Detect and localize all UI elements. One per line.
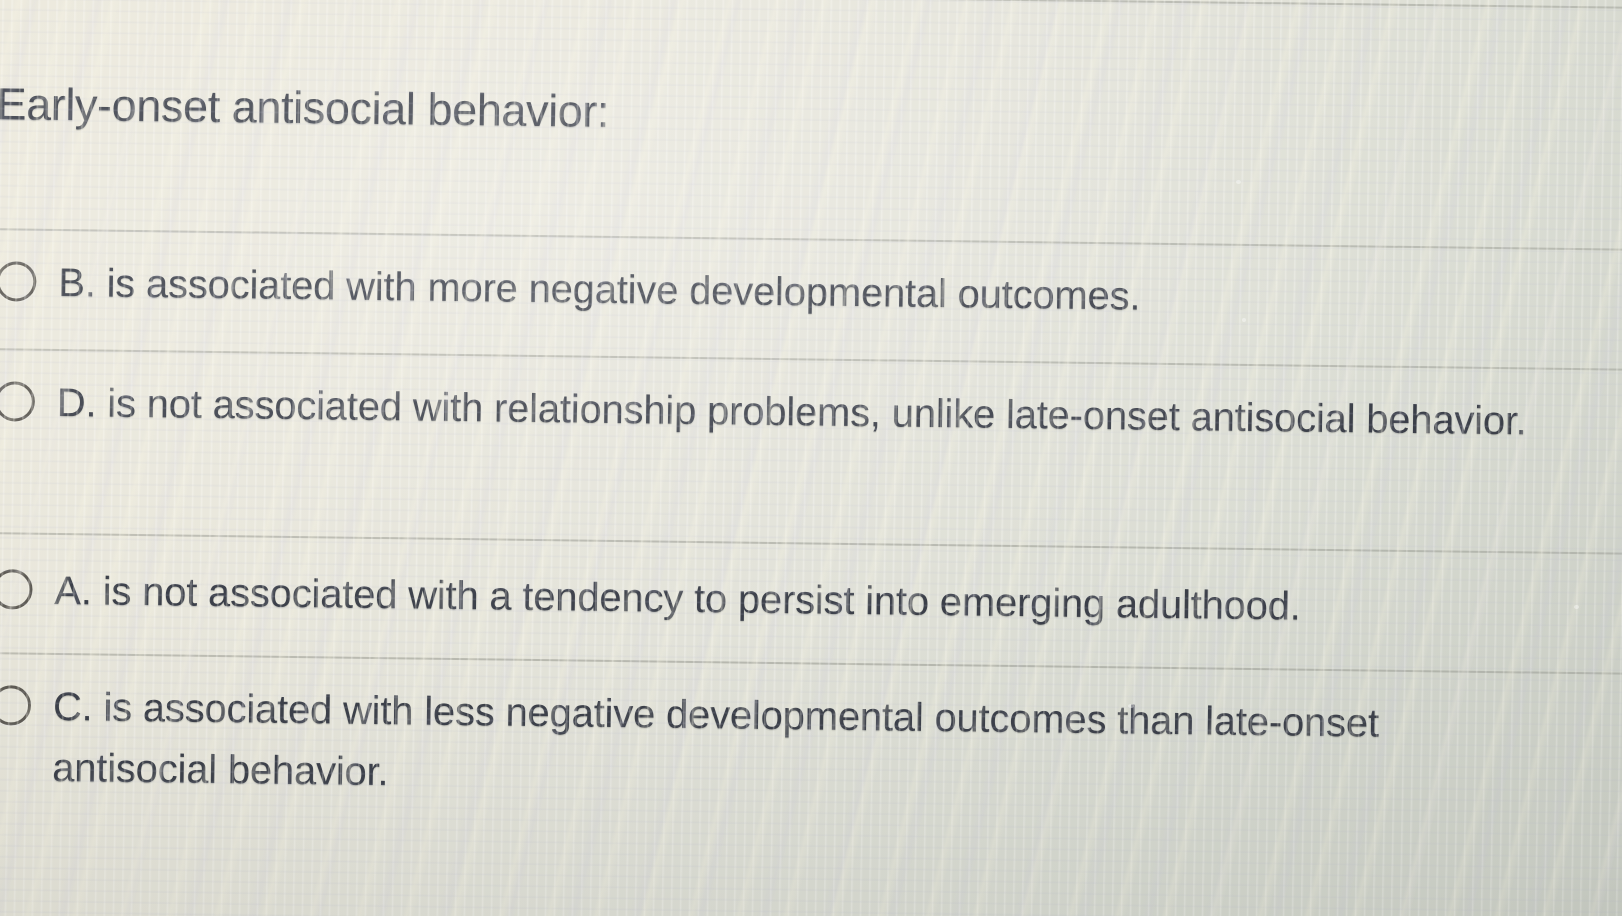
option-label-c: C. is associated with less negative deve… bbox=[52, 677, 1551, 817]
quiz-screen: Early-onset antisocial behavior: B. is a… bbox=[0, 0, 1622, 916]
radio-unchecked-icon[interactable] bbox=[0, 381, 35, 421]
separator-above-option-c bbox=[0, 652, 1622, 675]
separator-above-option-d bbox=[0, 348, 1622, 371]
option-row-a[interactable]: A. is not associated with a tendency to … bbox=[0, 560, 1553, 640]
question-text: Early-onset antisocial behavior: bbox=[0, 78, 1297, 147]
option-label-b: B. is associated with more negative deve… bbox=[58, 253, 1141, 327]
option-row-b[interactable]: B. is associated with more negative deve… bbox=[0, 252, 1557, 332]
separator-above-option-b bbox=[0, 228, 1622, 251]
radio-unchecked-icon[interactable] bbox=[0, 685, 31, 725]
option-row-c[interactable]: C. is associated with less negative deve… bbox=[0, 676, 1551, 817]
option-label-d: D. is not associated with relationship p… bbox=[56, 373, 1527, 452]
option-label-a: A. is not associated with a tendency to … bbox=[54, 561, 1301, 637]
content-plane: Early-onset antisocial behavior: B. is a… bbox=[0, 0, 1622, 916]
separator-above-option-a bbox=[0, 532, 1622, 555]
radio-unchecked-icon[interactable] bbox=[0, 261, 37, 301]
option-row-d[interactable]: D. is not associated with relationship p… bbox=[0, 372, 1555, 452]
separator-top bbox=[0, 0, 1622, 9]
radio-unchecked-icon[interactable] bbox=[0, 569, 33, 609]
